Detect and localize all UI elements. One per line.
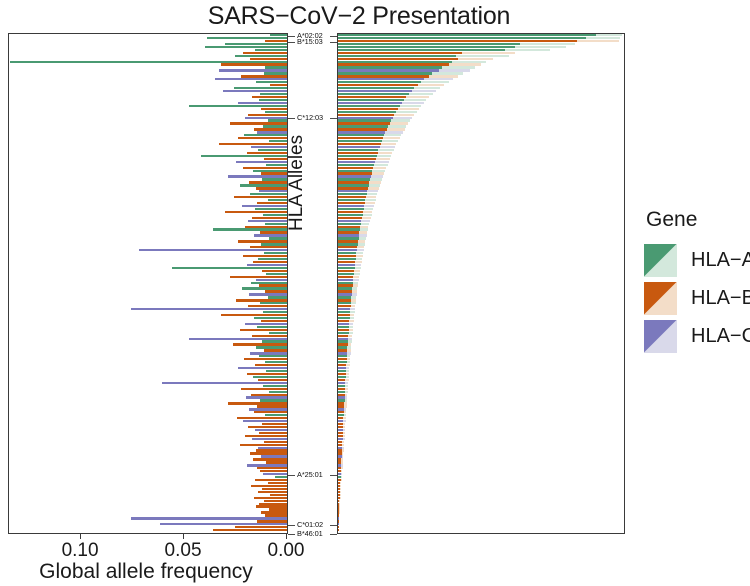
presentation-bar-solid <box>338 87 414 89</box>
allele-frequency-bar <box>160 523 287 525</box>
allele-frequency-bar <box>256 279 287 281</box>
allele-frequency-bar <box>248 305 287 307</box>
allele-frequency-bar <box>256 449 287 451</box>
presentation-bar-solid <box>338 246 357 248</box>
allele-frequency-bar <box>257 326 287 328</box>
allele-frequency-bar <box>236 161 287 163</box>
allele-frequency-bar <box>261 320 287 322</box>
allele-frequency-bar <box>255 49 287 51</box>
presentation-bar-solid <box>338 146 380 148</box>
allele-frequency-bar <box>253 261 287 263</box>
allele-frequency-bar <box>266 461 287 463</box>
presentation-bar-solid <box>338 326 349 328</box>
allele-frequency-bar <box>264 441 287 443</box>
presentation-bar-solid <box>338 505 339 507</box>
presentation-bar-solid <box>338 119 391 121</box>
presentation-bar-solid <box>338 167 373 169</box>
allele-frequency-bar <box>236 299 287 301</box>
allele-frequency-bar <box>250 246 287 248</box>
allele-frequency-bar <box>256 505 287 507</box>
allele-frequency-bar <box>238 367 287 369</box>
presentation-bar-solid <box>338 40 577 42</box>
presentation-bar-solid <box>338 414 344 416</box>
allele-frequency-bar <box>262 340 287 342</box>
presentation-bar-solid <box>338 420 343 422</box>
allele-frequency-bar <box>243 52 287 54</box>
presentation-bar-solid <box>338 517 339 519</box>
legend-item[interactable]: HLA−B <box>644 280 750 316</box>
allele-frequency-bar <box>162 382 287 384</box>
allele-label: B*46:01 <box>297 530 337 537</box>
x-axis-tick-label: 0.10 <box>48 540 112 562</box>
presentation-bar-solid <box>338 105 400 107</box>
allele-frequency-bar <box>139 249 287 251</box>
presentation-bar-solid <box>338 497 340 499</box>
allele-frequency-bar <box>252 335 287 337</box>
presentation-bar-solid <box>338 258 356 260</box>
presentation-bar-solid <box>338 523 339 525</box>
allele-frequency-bar <box>256 187 287 189</box>
allele-frequency-bar <box>269 237 287 239</box>
allele-frequency-bar <box>264 349 287 351</box>
presentation-bar-solid <box>338 458 341 460</box>
allele-frequency-bar <box>268 199 287 201</box>
presentation-bar-solid <box>338 111 396 113</box>
allele-frequency-bar <box>251 485 287 487</box>
allele-frequency-bar <box>264 72 287 74</box>
presentation-bar-solid <box>338 391 345 393</box>
presentation-bar-solid <box>338 49 505 51</box>
legend-item[interactable]: HLA−A <box>644 242 750 278</box>
presentation-bar-solid <box>338 488 340 490</box>
presentation-bar-solid <box>338 305 351 307</box>
allele-frequency-bar <box>251 394 287 396</box>
allele-tick-left <box>288 118 295 119</box>
legend-title: Gene <box>646 208 750 232</box>
presentation-bar-solid <box>338 494 340 496</box>
allele-frequency-bar <box>238 102 287 104</box>
x-axis-tick-label: 0.05 <box>151 540 215 562</box>
presentation-bar-solid <box>338 464 341 466</box>
allele-frequency-bar <box>275 476 287 478</box>
allele-frequency-bar <box>228 175 288 177</box>
allele-frequency-bar <box>269 332 287 334</box>
presentation-bar-solid <box>338 37 586 39</box>
presentation-bar-solid <box>338 217 362 219</box>
presentation-bar-solid <box>338 385 345 387</box>
allele-frequency-bar <box>258 258 287 260</box>
allele-frequency-bar <box>270 494 287 496</box>
allele-frequency-bar <box>263 311 287 313</box>
allele-frequency-bar <box>246 396 287 398</box>
presentation-bar-solid <box>338 470 341 472</box>
presentation-bar-solid <box>338 158 376 160</box>
allele-frequency-bar <box>233 343 287 345</box>
allele-frequency-bar <box>260 399 287 401</box>
presentation-bar-solid <box>338 223 361 225</box>
allele-frequency-bar <box>215 78 287 80</box>
allele-frequency-bar <box>261 511 287 513</box>
allele-frequency-bar <box>260 93 287 95</box>
presentation-bar-solid <box>338 261 355 263</box>
allele-frequency-bar <box>253 458 287 460</box>
presentation-bar-solid <box>338 355 347 357</box>
presentation-bar-solid <box>338 282 353 284</box>
allele-frequency-bar <box>259 503 287 505</box>
allele-frequency-bar <box>243 420 287 422</box>
presentation-bar-solid <box>338 332 349 334</box>
allele-frequency-bar <box>259 190 287 192</box>
chart-title: SARS−CoV−2 Presentation <box>0 2 718 31</box>
allele-frequency-bar <box>259 99 287 101</box>
allele-frequency-bar <box>268 119 287 121</box>
presentation-bar-solid <box>338 447 342 449</box>
presentation-bar-solid <box>338 379 345 381</box>
presentation-bar-solid <box>338 243 358 245</box>
presentation-bar-solid <box>338 152 378 154</box>
presentation-bar-solid <box>338 287 352 289</box>
allele-frequency-bar <box>258 149 287 151</box>
allele-tick-left <box>288 475 295 476</box>
allele-axis: A*02:02B*15:03C*12:03A*25:01C*01:02B*46:… <box>288 33 337 534</box>
presentation-bar-solid <box>338 299 351 301</box>
allele-frequency-bar <box>263 125 287 127</box>
legend-items: HLA−AHLA−BHLA−C <box>644 242 750 354</box>
presentation-bar-solid <box>338 72 432 74</box>
allele-label: C*01:02 <box>297 521 337 528</box>
presentation-bar-solid <box>338 134 384 136</box>
allele-frequency-bar <box>265 414 287 416</box>
allele-frequency-bar <box>261 455 287 457</box>
presentation-bar-solid <box>338 338 348 340</box>
allele-frequency-bar <box>257 467 287 469</box>
presentation-bar-solid <box>338 114 394 116</box>
presentation-bar-solid <box>338 58 458 60</box>
presentation-bar-solid <box>338 311 350 313</box>
allele-frequency-bar <box>247 373 287 375</box>
legend-label: HLA−B <box>691 287 750 310</box>
presentation-bar-solid <box>338 503 339 505</box>
allele-frequency-bar <box>238 240 287 242</box>
presentation-bar-solid <box>338 143 381 145</box>
presentation-bar-solid <box>338 164 374 166</box>
allele-frequency-bar <box>264 500 287 502</box>
allele-frequency-bar <box>265 111 287 113</box>
presentation-bar-solid <box>338 426 343 428</box>
allele-frequency-bar <box>270 34 287 36</box>
legend-label: HLA−A <box>691 249 750 272</box>
allele-frequency-bar <box>257 405 287 407</box>
presentation-bar-solid <box>338 340 348 342</box>
allele-frequency-bar <box>225 43 287 45</box>
presentation-bar-solid <box>338 364 346 366</box>
presentation-bar-solid <box>338 84 418 86</box>
allele-frequency-bar <box>262 178 287 180</box>
allele-frequency-bar <box>251 146 287 148</box>
allele-frequency-bar <box>248 114 287 116</box>
legend: Gene HLA−AHLA−BHLA−C <box>644 208 750 356</box>
presentation-bar-solid <box>338 220 361 222</box>
bar-layer-right <box>338 34 624 533</box>
allele-frequency-bar <box>262 423 287 425</box>
allele-frequency-bar <box>235 526 287 528</box>
presentation-bar-solid <box>338 361 347 363</box>
presentation-bar-solid <box>338 231 359 233</box>
presentation-bar-solid <box>338 273 354 275</box>
presentation-bar-solid <box>338 308 350 310</box>
presentation-bar-solid <box>338 184 369 186</box>
allele-frequency-bar <box>250 352 287 354</box>
presentation-bar-solid <box>338 187 368 189</box>
presentation-bar-solid <box>338 178 370 180</box>
allele-frequency-bar <box>241 75 287 77</box>
allele-frequency-bar <box>249 293 287 295</box>
allele-frequency-bar <box>10 61 287 63</box>
presentation-bar-solid <box>338 479 341 481</box>
allele-frequency-bar <box>265 514 287 516</box>
allele-frequency-bar <box>252 217 287 219</box>
allele-frequency-bar <box>201 155 287 157</box>
allele-frequency-bar <box>260 231 287 233</box>
allele-frequency-bar <box>228 402 288 404</box>
presentation-bar-solid <box>338 290 352 292</box>
allele-frequency-bar <box>265 66 287 68</box>
panel-allele-frequency <box>8 33 288 534</box>
allele-frequency-bar <box>258 447 287 449</box>
presentation-bar-solid <box>338 320 349 322</box>
allele-frequency-bar <box>266 164 287 166</box>
presentation-bar-solid <box>338 302 351 304</box>
presentation-bar-solid <box>338 455 342 457</box>
legend-swatch <box>644 320 677 353</box>
allele-frequency-bar <box>263 385 287 387</box>
presentation-bar-solid <box>338 473 341 475</box>
presentation-bar-solid <box>338 75 429 77</box>
allele-frequency-bar <box>254 317 287 319</box>
presentation-bar-solid <box>338 117 393 119</box>
presentation-bar-solid <box>338 376 346 378</box>
allele-frequency-bar <box>266 370 287 372</box>
allele-frequency-bar <box>250 452 287 454</box>
allele-frequency-bar <box>242 287 287 289</box>
allele-frequency-bar <box>249 181 287 183</box>
legend-swatch <box>644 282 677 315</box>
allele-frequency-bar <box>230 276 287 278</box>
allele-frequency-bar <box>245 323 287 325</box>
allele-frequency-bar <box>256 346 287 348</box>
presentation-bar-solid <box>338 514 339 516</box>
bar-layer-left <box>9 34 287 533</box>
allele-frequency-bar <box>189 105 287 107</box>
allele-label: C*12:03 <box>297 114 337 121</box>
presentation-bar-solid <box>338 411 344 413</box>
presentation-bar-solid <box>338 296 351 298</box>
presentation-bar-solid <box>338 249 357 251</box>
allele-label: A*25:01 <box>297 471 337 478</box>
allele-frequency-bar <box>268 482 287 484</box>
presentation-bar-solid <box>338 482 340 484</box>
presentation-bar-solid <box>338 508 339 510</box>
presentation-bar-solid <box>338 441 342 443</box>
presentation-bar-solid <box>338 449 342 451</box>
allele-frequency-bar <box>131 308 287 310</box>
presentation-bar-solid <box>338 526 339 528</box>
allele-frequency-bar <box>253 170 287 172</box>
allele-frequency-bar <box>248 220 287 222</box>
allele-frequency-bar <box>258 491 287 493</box>
presentation-bar-solid <box>338 346 347 348</box>
presentation-bar-solid <box>338 93 409 95</box>
presentation-bar-solid <box>338 99 404 101</box>
allele-frequency-bar <box>234 87 287 89</box>
x-axis-tick-label: 0.00 <box>254 540 318 562</box>
allele-frequency-bar <box>234 196 287 198</box>
presentation-bar-solid <box>338 529 339 531</box>
allele-frequency-bar <box>266 273 287 275</box>
presentation-bar-solid <box>338 399 345 401</box>
allele-frequency-bar <box>254 234 287 236</box>
allele-frequency-bar <box>240 184 287 186</box>
allele-frequency-bar <box>213 529 287 531</box>
allele-frequency-bar <box>213 228 287 230</box>
presentation-bar-solid <box>338 240 358 242</box>
presentation-bar-solid <box>338 252 356 254</box>
presentation-bar-solid <box>338 234 359 236</box>
allele-frequency-bar <box>265 223 287 225</box>
allele-frequency-bar <box>238 137 287 139</box>
allele-tick-left <box>288 525 295 526</box>
allele-frequency-bar <box>247 152 287 154</box>
presentation-bar-solid <box>338 122 390 124</box>
presentation-bar-solid <box>338 279 353 281</box>
allele-frequency-bar <box>255 479 287 481</box>
presentation-bar-solid <box>338 69 439 71</box>
presentation-bar-solid <box>338 329 349 331</box>
presentation-bar-solid <box>338 358 347 360</box>
allele-frequency-bar <box>264 158 287 160</box>
presentation-bar-solid <box>338 161 375 163</box>
allele-frequency-bar <box>221 63 287 65</box>
presentation-bar-solid <box>338 202 365 204</box>
presentation-bar-solid <box>338 485 340 487</box>
presentation-bar-solid <box>338 140 382 142</box>
presentation-bar-solid <box>338 61 452 63</box>
allele-frequency-bar <box>253 376 287 378</box>
presentation-bar-solid <box>338 429 343 431</box>
presentation-bar-solid <box>338 367 346 369</box>
allele-frequency-bar <box>260 470 287 472</box>
presentation-bar-solid <box>338 55 456 57</box>
allele-frequency-bar <box>249 408 287 410</box>
presentation-bar-solid <box>338 170 372 172</box>
presentation-bar-solid <box>338 175 371 177</box>
presentation-bar-solid <box>338 199 365 201</box>
allele-frequency-bar <box>258 379 287 381</box>
allele-frequency-bar <box>251 282 287 284</box>
allele-frequency-bar <box>247 264 287 266</box>
presentation-bar-solid <box>338 284 353 286</box>
presentation-bar-solid <box>338 317 350 319</box>
allele-frequency-bar <box>230 122 287 124</box>
presentation-bar-solid <box>338 78 424 80</box>
allele-frequency-bar <box>250 58 287 60</box>
presentation-bar-solid <box>338 81 421 83</box>
allele-frequency-bar <box>269 391 287 393</box>
presentation-bar-solid <box>338 211 363 213</box>
allele-frequency-bar <box>270 84 287 86</box>
x-axis-tick <box>183 534 184 539</box>
presentation-bar-solid <box>338 423 343 425</box>
presentation-bar-solid <box>338 196 366 198</box>
legend-item[interactable]: HLA−C <box>644 318 750 354</box>
presentation-bar-solid <box>338 128 387 130</box>
y-axis-label: HLA Alleles <box>286 211 308 231</box>
presentation-bar-solid <box>338 343 348 345</box>
presentation-bar-solid <box>338 108 398 110</box>
allele-frequency-bar <box>269 508 287 510</box>
allele-label: B*15:03 <box>297 38 337 45</box>
allele-frequency-bar <box>268 296 287 298</box>
allele-frequency-bar <box>245 117 287 119</box>
presentation-bar-solid <box>338 137 383 139</box>
allele-frequency-bar <box>207 37 287 39</box>
allele-frequency-bar <box>248 426 287 428</box>
presentation-bar-solid <box>338 461 341 463</box>
presentation-bar-solid <box>338 66 442 68</box>
presentation-bar-solid <box>338 63 449 65</box>
allele-frequency-bar <box>252 96 287 98</box>
presentation-bar-solid <box>338 255 356 257</box>
allele-frequency-bar <box>240 329 287 331</box>
allele-frequency-bar <box>255 364 287 366</box>
presentation-bar-solid <box>338 402 344 404</box>
presentation-bar-solid <box>338 52 462 54</box>
presentation-bar-solid <box>338 382 345 384</box>
presentation-bar-solid <box>338 237 359 239</box>
presentation-bar-solid <box>338 155 377 157</box>
allele-frequency-bar <box>243 167 287 169</box>
presentation-bar-solid <box>338 293 352 295</box>
x-axis-label: Global allele frequency <box>0 560 292 584</box>
allele-frequency-bar <box>261 108 287 110</box>
allele-frequency-bar <box>254 411 287 413</box>
allele-frequency-bar <box>259 432 287 434</box>
allele-frequency-bar <box>261 243 287 245</box>
legend-swatch <box>644 244 677 277</box>
presentation-bar-solid <box>338 34 596 36</box>
presentation-bar-solid <box>338 417 343 419</box>
presentation-bar-solid <box>338 267 355 269</box>
x-axis-tick <box>80 534 81 539</box>
allele-frequency-bar <box>254 128 287 130</box>
presentation-bar-solid <box>338 181 369 183</box>
allele-frequency-bar <box>241 388 287 390</box>
allele-frequency-bar <box>205 46 287 48</box>
presentation-bar-solid <box>338 190 367 192</box>
allele-frequency-bar <box>131 517 287 519</box>
presentation-bar-solid <box>338 270 354 272</box>
allele-frequency-bar <box>219 143 287 145</box>
allele-frequency-bar <box>262 270 287 272</box>
allele-frequency-bar <box>223 90 287 92</box>
allele-frequency-bar <box>172 267 287 269</box>
allele-frequency-bar <box>247 464 287 466</box>
presentation-bar-solid <box>338 452 342 454</box>
allele-frequency-bar <box>252 438 287 440</box>
presentation-bar-solid <box>338 335 348 337</box>
allele-frequency-bar <box>219 69 287 71</box>
allele-frequency-bar <box>245 226 287 228</box>
